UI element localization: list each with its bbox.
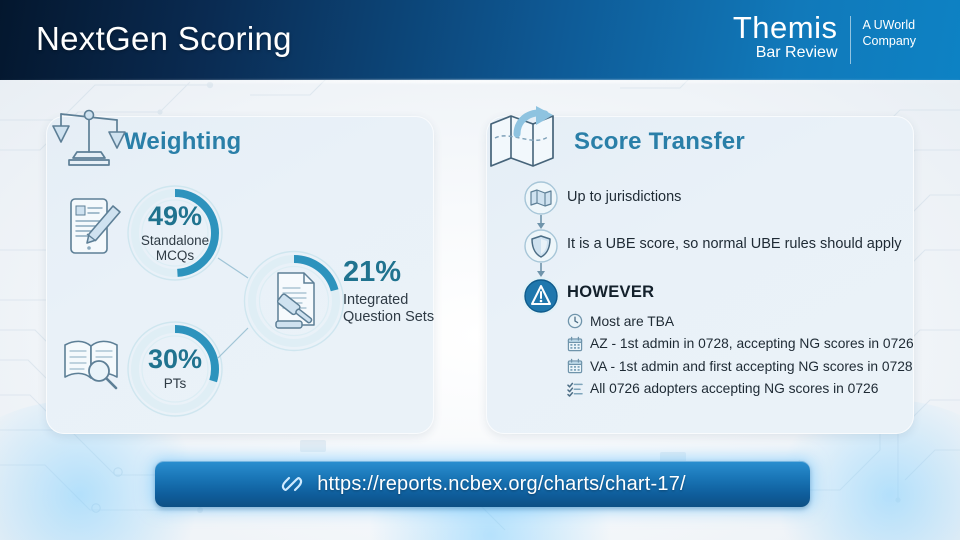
logo-tagline-line1: A UWorld	[863, 18, 917, 34]
bullet-text: All 0726 adopters accepting NG scores in…	[590, 381, 878, 396]
page-title: NextGen Scoring	[36, 20, 292, 58]
source-url-button[interactable]: https://reports.ncbex.org/charts/chart-1…	[155, 461, 810, 507]
weighting-title: Weighting	[124, 128, 241, 156]
calendar-icon	[567, 358, 583, 374]
score-transfer-title: Score Transfer	[574, 128, 745, 156]
bullet-text: Most are TBA	[590, 314, 674, 329]
score-transfer-step-icons	[515, 180, 567, 320]
calendar-icon	[567, 336, 583, 352]
bullet-text: AZ - 1st admin in 0728, accepting NG sco…	[590, 336, 914, 351]
donut-connectors	[120, 180, 370, 430]
transfer-step-2-text: It is a UBE score, so normal UBE rules s…	[567, 236, 901, 252]
tablet-pencil-icon	[66, 196, 122, 258]
transfer-step-1: Up to jurisdictions	[567, 189, 681, 205]
however-heading: HOWEVER	[567, 283, 654, 302]
list-item: AZ - 1st admin in 0728, accepting NG sco…	[567, 333, 914, 356]
clock-icon	[567, 313, 583, 329]
list-item: All 0726 adopters accepting NG scores in…	[567, 378, 914, 401]
themis-logo: Themis Bar Review A UWorld Company	[733, 13, 916, 64]
checklist-icon	[567, 381, 583, 397]
folded-map-arrow-icon	[487, 104, 563, 172]
scales-of-justice-icon	[52, 104, 126, 168]
map-icon	[525, 182, 557, 214]
chain-link-icon	[279, 471, 305, 497]
slide-header: NextGen Scoring Themis Bar Review A UWor…	[0, 0, 960, 80]
transfer-step-2: It is a UBE score, so normal UBE rules s…	[567, 236, 901, 252]
list-item: VA - 1st admin and first accepting NG sc…	[567, 355, 914, 378]
book-magnifier-icon	[62, 336, 122, 390]
however-bullet-list: Most are TBA AZ - 1st admin in 0728, acc…	[567, 310, 914, 400]
logo-brand-sub: Bar Review	[733, 43, 838, 62]
logo-divider	[850, 16, 851, 64]
bullet-text: VA - 1st admin and first accepting NG sc…	[590, 359, 913, 374]
logo-brand: Themis	[733, 13, 838, 42]
logo-tagline: A UWorld Company	[863, 18, 917, 49]
warning-triangle-icon	[522, 277, 560, 315]
slide-root: NextGen Scoring Themis Bar Review A UWor…	[0, 0, 960, 540]
source-url-text: https://reports.ncbex.org/charts/chart-1…	[317, 473, 686, 496]
shield-icon	[525, 230, 557, 262]
transfer-step-1-text: Up to jurisdictions	[567, 189, 681, 205]
list-item: Most are TBA	[567, 310, 914, 333]
logo-tagline-line2: Company	[863, 34, 917, 50]
